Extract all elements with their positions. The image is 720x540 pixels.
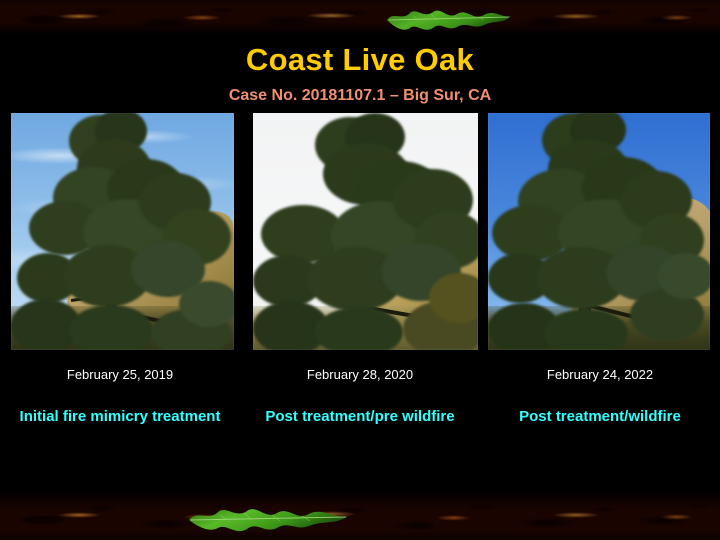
caption-col-1: Initial fire mimicry treatment: [0, 408, 240, 426]
oak-canopy: [488, 113, 710, 350]
photo-2019[interactable]: [11, 113, 234, 350]
case-subtitle: Case No. 20181107.1 – Big Sur, CA: [0, 88, 720, 104]
photo-date: February 25, 2019: [67, 367, 173, 382]
photo-caption: Post treatment/wildfire: [519, 408, 681, 425]
bottom-flame-border: [0, 492, 720, 540]
date-col-1: February 25, 2019: [0, 366, 240, 384]
page-title: Coast Live Oak: [0, 44, 720, 75]
photo-2022[interactable]: [488, 113, 710, 350]
oak-canopy: [11, 113, 234, 350]
photo-date: February 24, 2022: [547, 367, 653, 382]
slide-canvas: Coast Live Oak Case No. 20181107.1 – Big…: [0, 0, 720, 540]
date-row: February 25, 2019 February 28, 2020 Febr…: [0, 366, 720, 384]
photo-date: February 28, 2020: [307, 367, 413, 382]
caption-row: Initial fire mimicry treatment Post trea…: [0, 408, 720, 426]
oak-canopy: [253, 113, 478, 350]
caption-col-3: Post treatment/wildfire: [480, 408, 720, 426]
top-flame-border: [0, 0, 720, 34]
photo-2020[interactable]: [253, 113, 478, 350]
flame-edge-fade: [0, 492, 720, 540]
date-col-2: February 28, 2020: [240, 366, 480, 384]
photo-caption: Initial fire mimicry treatment: [20, 408, 221, 425]
flame-edge-fade: [0, 0, 720, 34]
caption-col-2: Post treatment/pre wildfire: [240, 408, 480, 426]
date-col-3: February 24, 2022: [480, 366, 720, 384]
photo-caption: Post treatment/pre wildfire: [265, 408, 454, 425]
